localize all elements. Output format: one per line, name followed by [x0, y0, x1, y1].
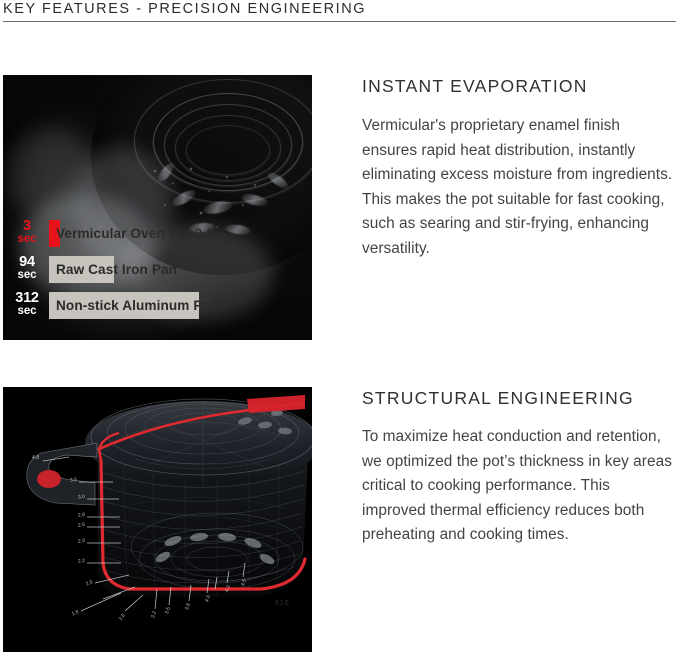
svg-text:2.8: 2.8 — [78, 512, 86, 519]
header-divider — [3, 21, 676, 22]
feature-image-instant-evaporation: 3 sec Vermicular Oven Pot 2.0 94 sec Raw… — [3, 75, 312, 340]
svg-text:2.3: 2.3 — [78, 538, 86, 545]
feature-section-structural-engineering: 3.5 3.0 2.8 2.5 2.3 2.2 2.0 1.8 2.6 3.2 … — [0, 387, 679, 653]
svg-text:2.2: 2.2 — [78, 558, 86, 565]
bar-value-number: 3 — [10, 219, 44, 234]
chart-row: 3 sec Vermicular Oven Pot 2.0 — [10, 219, 310, 249]
evaporation-bar-chart: 3 sec Vermicular Oven Pot 2.0 94 sec Raw… — [3, 217, 312, 335]
feature-body: To maximize heat conduction and retentio… — [362, 425, 676, 548]
bar-value-label: 94 sec — [10, 255, 44, 282]
bar-value-number: 312 — [10, 291, 44, 306]
page-title: KEY FEATURES - PRECISION ENGINEERING — [3, 0, 366, 18]
feature-image-structural-engineering: 3.5 3.0 2.8 2.5 2.3 2.2 2.0 1.8 2.6 3.2 … — [3, 387, 312, 652]
svg-text:3.5: 3.5 — [70, 477, 78, 484]
cad-wireframe-render: 3.5 3.0 2.8 2.5 2.3 2.2 2.0 1.8 2.6 3.2 … — [3, 387, 312, 652]
feature-heading: INSTANT EVAPORATION — [362, 75, 676, 97]
svg-text:610: 610 — [275, 600, 290, 607]
bar-track: Vermicular Oven Pot 2.0 — [49, 220, 310, 247]
chart-row: 312 sec Non-stick Aluminum Pan — [10, 291, 310, 321]
feature-body: Vermicular's proprietary enamel finish e… — [362, 114, 676, 262]
bar-value-unit: sec — [10, 234, 44, 246]
bar-value-unit: sec — [10, 270, 44, 282]
bar-category-label: Vermicular Oven Pot 2.0 — [56, 220, 214, 247]
bar-value-label: 3 sec — [10, 219, 44, 246]
feature-text-instant-evaporation: INSTANT EVAPORATION Vermicular's proprie… — [362, 75, 676, 262]
chart-row: 94 sec Raw Cast Iron Pan — [10, 255, 310, 285]
svg-text:3.0: 3.0 — [78, 494, 86, 501]
bar-value-number: 94 — [10, 255, 44, 270]
cad-wireframe-svg: 3.5 3.0 2.8 2.5 2.3 2.2 2.0 1.8 2.6 3.2 … — [3, 387, 312, 652]
bar-category-label: Non-stick Aluminum Pan — [56, 292, 219, 319]
feature-text-structural-engineering: STRUCTURAL ENGINEERING To maximize heat … — [362, 387, 676, 548]
bar-track: Raw Cast Iron Pan — [49, 256, 310, 283]
bar-category-label: Raw Cast Iron Pan — [56, 256, 177, 283]
bar-track: Non-stick Aluminum Pan — [49, 292, 310, 319]
page-header: KEY FEATURES - PRECISION ENGINEERING — [3, 0, 676, 22]
svg-text:4.8: 4.8 — [32, 455, 39, 461]
svg-text:2.5: 2.5 — [78, 522, 86, 529]
bar-value-label: 312 sec — [10, 291, 44, 318]
feature-section-instant-evaporation: 3 sec Vermicular Oven Pot 2.0 94 sec Raw… — [0, 75, 679, 341]
feature-heading: STRUCTURAL ENGINEERING — [362, 387, 676, 409]
bar-value-unit: sec — [10, 306, 44, 318]
